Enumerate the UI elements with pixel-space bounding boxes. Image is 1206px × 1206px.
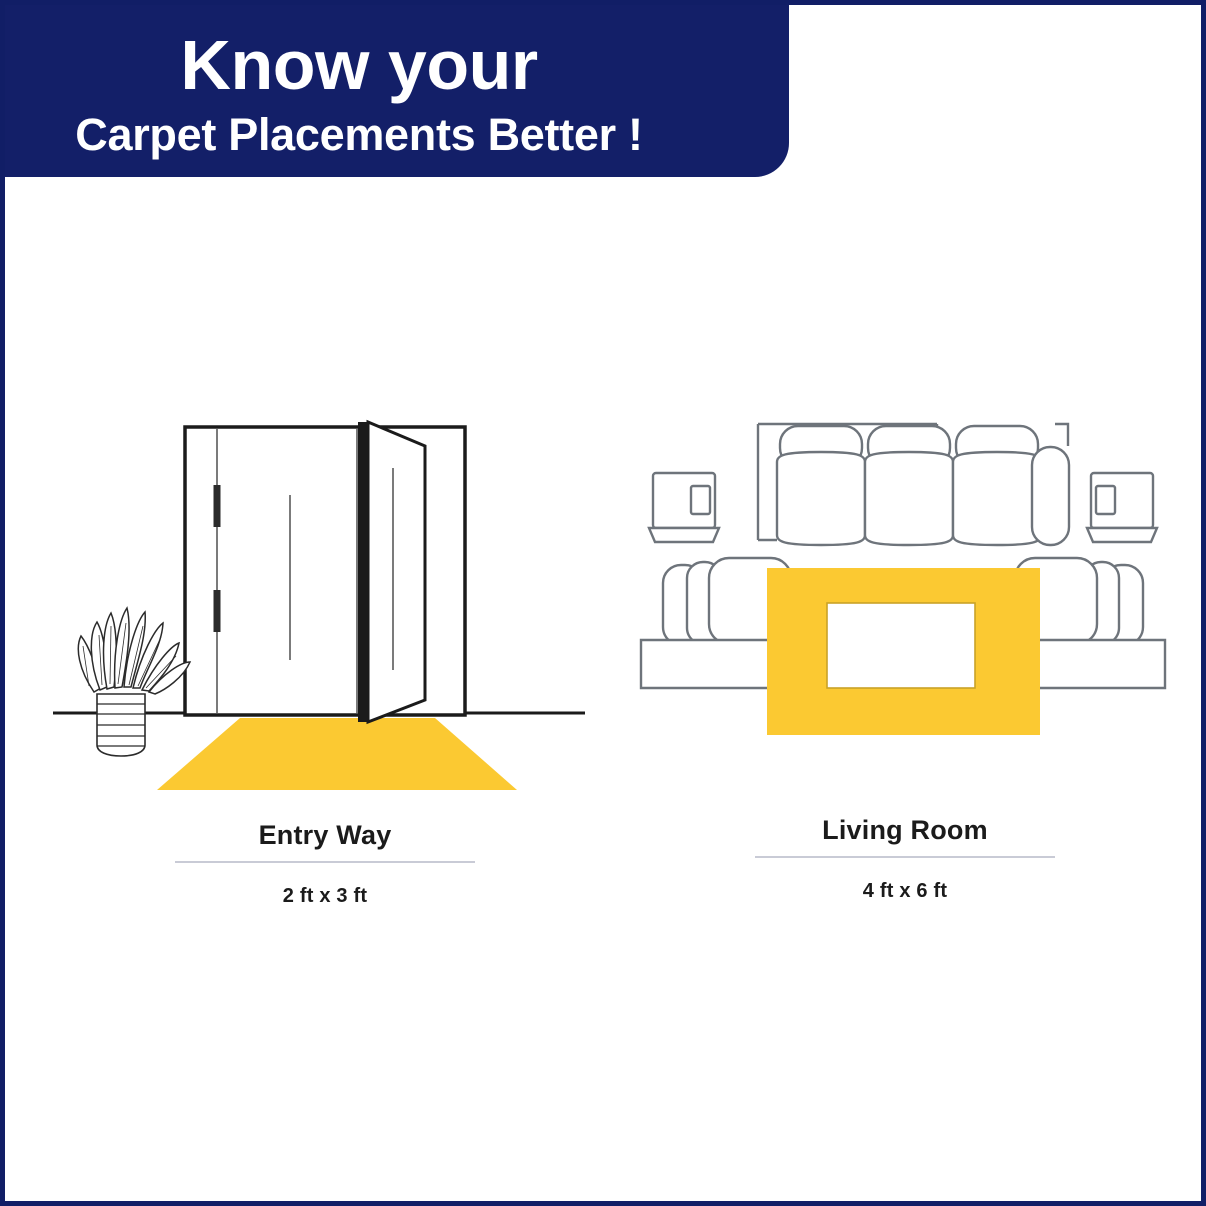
entry-way-caption: Entry Way 2 ft x 3 ft (175, 820, 475, 908)
entry-way-title: Entry Way (175, 820, 475, 861)
header-banner: Know your Carpet Placements Better ! (0, 0, 789, 177)
door-hinge-bottom-icon (214, 590, 221, 632)
living-room-illustration (625, 400, 1185, 820)
infographic-page: Know your Carpet Placements Better ! (0, 0, 1206, 1206)
table-lamp-left-icon (691, 486, 710, 514)
door-hinge-top-icon (214, 485, 221, 527)
table-lamp-right-icon (1096, 486, 1115, 514)
banner-title-line2: Carpet Placements Better ! (75, 112, 642, 157)
sofa-icon (758, 424, 1069, 545)
entry-way-illustration (45, 400, 605, 820)
side-table-right-icon (1087, 473, 1157, 542)
placement-card-living-room: Living Room 4 ft x 6 ft (625, 400, 1185, 920)
side-table-left-icon (649, 473, 719, 542)
living-room-caption: Living Room 4 ft x 6 ft (755, 815, 1055, 903)
entry-way-size: 2 ft x 3 ft (175, 863, 475, 908)
living-room-title: Living Room (755, 815, 1055, 856)
banner-title-line1: Know your (180, 30, 537, 100)
entry-way-rug (157, 718, 517, 790)
living-room-size: 4 ft x 6 ft (755, 858, 1055, 903)
open-door-leaf (368, 422, 425, 722)
potted-plant-icon (78, 608, 190, 756)
placement-card-entry-way: Entry Way 2 ft x 3 ft (45, 400, 605, 920)
coffee-table-icon (827, 603, 975, 688)
